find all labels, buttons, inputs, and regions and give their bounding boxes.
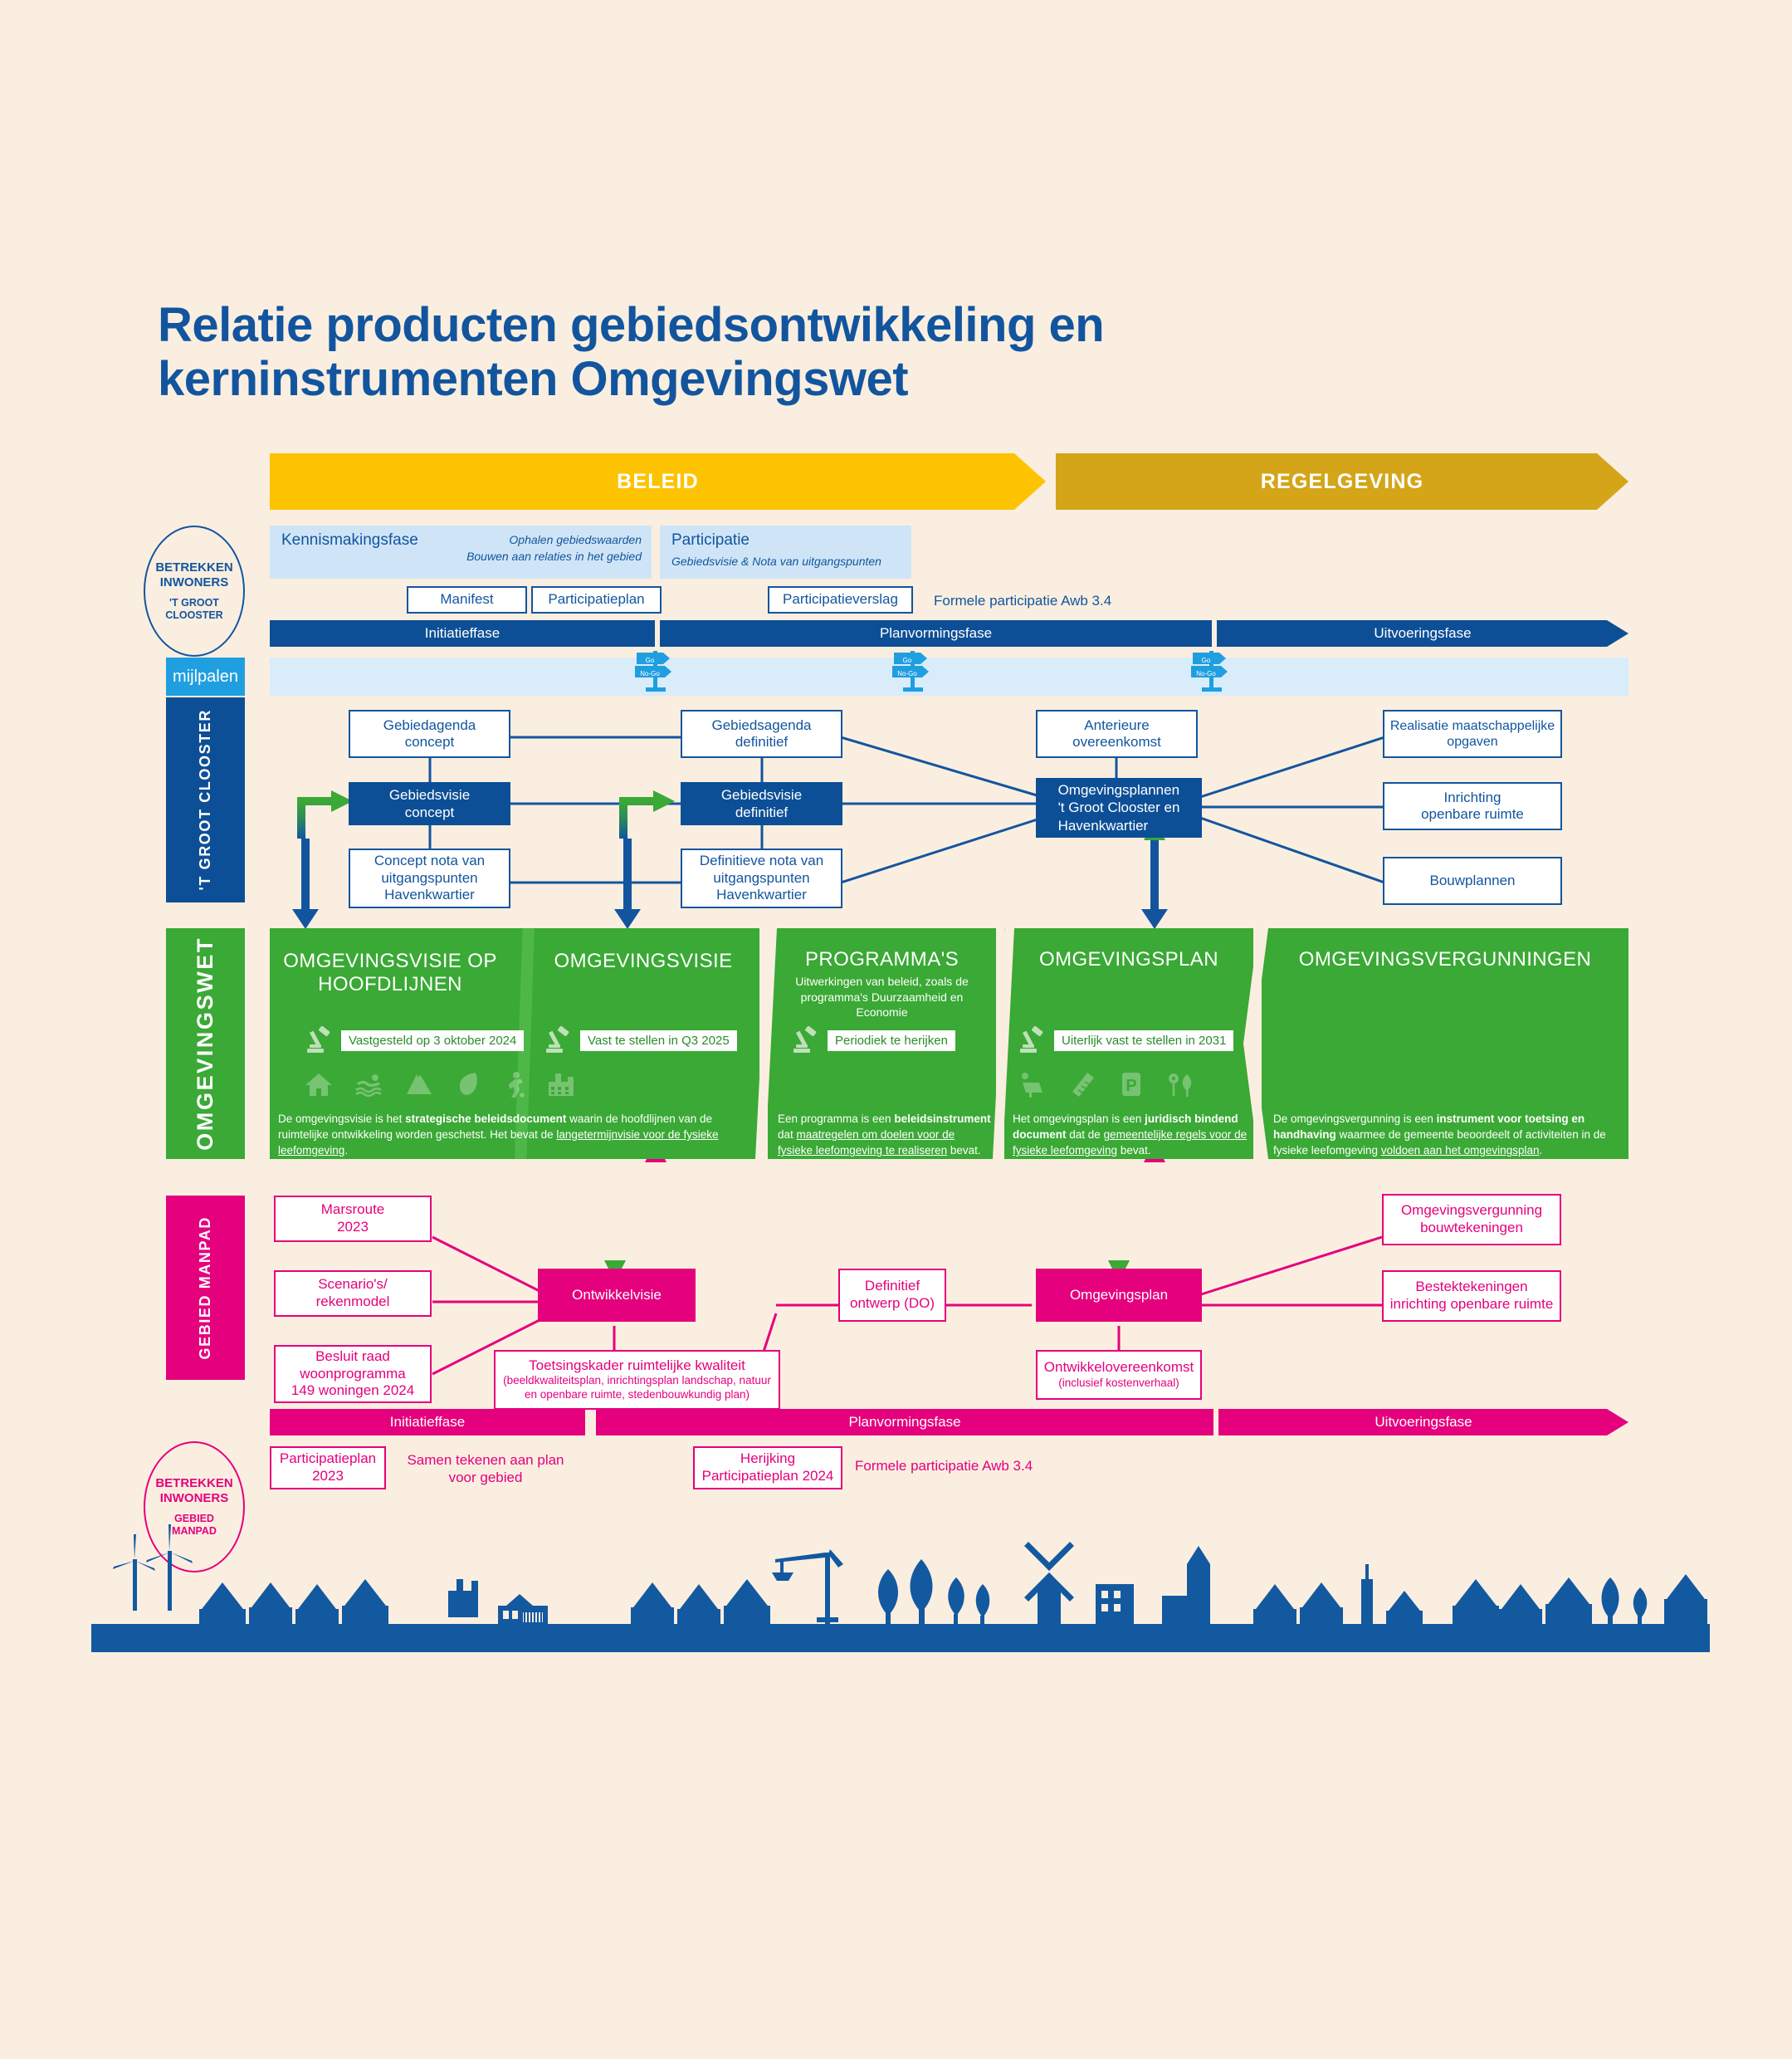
body-run: beleidsinstrument	[894, 1113, 990, 1125]
signpost-go-nogo-3: Go No-Go	[1183, 646, 1241, 696]
nature-icon	[1167, 1071, 1195, 1098]
node-omgevingsplan-pink: Omgevingsplan	[1036, 1269, 1202, 1322]
sidebar-label: 'T GROOT CLOOSTER	[197, 709, 214, 890]
segment-tag-row-1: Vastgesteld op 3 oktober 2024	[305, 1026, 524, 1054]
tent-icon	[406, 1072, 434, 1097]
pale-box-kennismakingsfase: Kennismakingsfase Ophalen gebiedswaarden…	[270, 526, 652, 579]
phase-bar-label: Initiatieffase	[390, 1414, 465, 1431]
phase-bar-initiatieffase-bottom: Initiatieffase	[270, 1409, 585, 1435]
node-label: Gebiedsagenda definitief	[711, 717, 811, 751]
node-concept-nota: Concept nota van uitgangspunten Havenkwa…	[349, 849, 510, 908]
sidebar-gebied-manpad: GEBIED MANPAD	[166, 1196, 245, 1380]
title-line-1: Relatie producten gebiedsontwikkeling en	[158, 299, 1403, 353]
body-run: Een programma is een	[778, 1113, 894, 1125]
green-segment-omgevingsvergunningen: OMGEVINGSVERGUNNINGEN De omgevingsvergun…	[1262, 928, 1628, 1159]
infographic-canvas: Relatie producten gebiedsontwikkeling en…	[0, 0, 1792, 2059]
body-run: bevat.	[947, 1144, 981, 1157]
node-omgevingsplannen: Omgevingsplannen 't Groot Clooster en Ha…	[1036, 778, 1202, 838]
segment-subtitle: Uitwerkingen van beleid, zoals de progra…	[768, 974, 996, 1020]
segment-header-4: OMGEVINGSPLAN	[1004, 948, 1253, 971]
node-label: Definitief ontwerp (DO)	[850, 1278, 935, 1312]
pale-box-italic-2: Bouwen aan relaties in het gebied	[466, 548, 642, 565]
phase-bar-label: Initiatieffase	[425, 625, 500, 642]
node-ontwikkelvisie: Ontwikkelvisie	[538, 1269, 696, 1322]
box-label: Participatieplan	[548, 591, 644, 608]
node-label: Realisatie maatschappelijke opgaven	[1390, 718, 1555, 750]
segment-tag: Vastgesteld op 3 oktober 2024	[341, 1030, 524, 1051]
segment-header-3: PROGRAMMA'S Uitwerkingen van beleid, zoa…	[768, 948, 996, 1020]
segment-body-3: Een programma is een beleidsinstrument d…	[778, 1111, 992, 1158]
segment-body-5: De omgevingsvergunning is een instrument…	[1273, 1111, 1622, 1158]
phase-bar-planvormingsfase-top: Planvormingsfase	[660, 620, 1212, 647]
crane-icon	[772, 1549, 843, 1626]
mijlpalen-tag: mijlpalen	[166, 658, 245, 696]
pale-box-italic-1: Ophalen gebiedswaarden	[466, 531, 642, 548]
badge-line-3: 'T GROOT	[169, 597, 219, 609]
mijlpalen-label: mijlpalen	[173, 668, 238, 687]
sidebar-label: GEBIED MANPAD	[197, 1216, 214, 1359]
body-run: dat	[778, 1128, 797, 1141]
node-label: Anterieure overeenkomst	[1072, 717, 1161, 751]
node-gebiedsvisie-definitief: Gebiedsvisie definitief	[681, 782, 842, 825]
node-label: Gebiedagenda concept	[383, 717, 476, 751]
badge-line-2: INWONERS	[160, 1491, 229, 1506]
sidebar-omgevingswet: OMGEVINGSWET	[166, 928, 245, 1159]
node-ontwikkelovereenkomst: Ontwikkelovereenkomst (inclusief kostenv…	[1036, 1350, 1202, 1400]
body-run: strategische beleidsdocument	[405, 1113, 566, 1125]
windmill-icon	[1024, 1542, 1074, 1624]
segment-icon-row-1	[305, 1071, 575, 1098]
body-run: .	[1539, 1144, 1542, 1157]
note-samen-tekenen: Samen tekenen aan plan voor gebied	[398, 1451, 573, 1487]
wind-turbine-icon	[113, 1524, 193, 1611]
factory-icon	[547, 1072, 575, 1097]
svg-text:Go: Go	[646, 657, 655, 664]
node-label: Concept nota van uitgangspunten Havenkwa…	[374, 853, 485, 903]
segment-tag: Vast te stellen in Q3 2025	[580, 1030, 737, 1051]
node-besluit-raad: Besluit raad woonprogramma 149 woningen …	[274, 1345, 432, 1403]
skyline-illustration	[91, 1519, 1710, 1652]
segment-header-5: OMGEVINGSVERGUNNINGEN	[1262, 948, 1628, 971]
node-gebiedsagenda-concept: Gebiedagenda concept	[349, 710, 510, 758]
phase-bar-uitvoeringsfase-bottom: Uitvoeringsfase	[1218, 1409, 1628, 1435]
segment-title: OMGEVINGSPLAN	[1004, 948, 1253, 971]
note-formele-participatie-bottom: Formele participatie Awb 3.4	[855, 1457, 1033, 1475]
segment-tag-row-3: Periodiek te herijken	[791, 1026, 955, 1054]
node-marsroute: Marsroute 2023	[274, 1196, 432, 1242]
node-label: Inrichting openbare ruimte	[1421, 790, 1524, 824]
banner-beleid: BELEID	[270, 453, 1046, 510]
solar-panel-icon	[1018, 1071, 1046, 1098]
runner-icon	[502, 1071, 525, 1098]
node-label: Scenario's/ rekenmodel	[316, 1276, 390, 1310]
phase-bar-initiatieffase-top: Initiatieffase	[270, 620, 655, 647]
segment-body-4: Het omgevingsplan is een juridisch binde…	[1013, 1111, 1249, 1158]
page-title: Relatie producten gebiedsontwikkeling en…	[158, 299, 1403, 407]
node-scenarios-rekenmodel: Scenario's/ rekenmodel	[274, 1270, 432, 1317]
svg-text:Go: Go	[903, 657, 912, 664]
svg-text:No-Go: No-Go	[640, 670, 660, 677]
box-participatieplan-2023: Participatieplan 2023	[270, 1446, 386, 1489]
box-participatieverslag: Participatieverslag	[768, 586, 913, 614]
swimming-icon	[354, 1072, 384, 1097]
box-label: Participatieplan 2023	[280, 1450, 376, 1484]
tree-icon	[878, 1559, 989, 1626]
node-anterieure-overeenkomst: Anterieure overeenkomst	[1036, 710, 1198, 758]
segment-title: OMGEVINGSVISIE OP HOOFDLIJNEN	[278, 950, 502, 997]
pale-box-italic-1: Gebiedsvisie & Nota van uitgangspunten	[671, 553, 901, 570]
ruler-icon	[1071, 1071, 1096, 1098]
body-run: dat de	[1067, 1128, 1104, 1141]
box-label: Participatieverslag	[783, 591, 898, 608]
segment-tag-row-2: Vast te stellen in Q3 2025	[544, 1026, 737, 1054]
gavel-icon	[305, 1026, 333, 1054]
node-label: Ontwikkelvisie	[572, 1287, 662, 1303]
gavel-icon	[1018, 1026, 1046, 1054]
node-label: Bestektekeningen inrichting openbare rui…	[1390, 1279, 1554, 1313]
green-segment-omgevingsplan: OMGEVINGSPLAN Uiterlijk vast te stellen …	[1004, 928, 1253, 1159]
badge-line-2: INWONERS	[160, 575, 229, 590]
node-label: Omgevingsplan	[1070, 1287, 1168, 1303]
node-sublabel: (beeldkwaliteitsplan, inrichtingsplan la…	[500, 1374, 774, 1402]
node-label: Toetsingskader ruimtelijke kwaliteit	[529, 1357, 745, 1375]
node-label: Ontwikkelovereenkomst	[1044, 1359, 1194, 1377]
box-label: Herijking Participatieplan 2024	[702, 1450, 834, 1484]
box-herijking-participatieplan-2024: Herijking Participatieplan 2024	[693, 1446, 842, 1489]
green-segment-omgevingsvisie-group: OMGEVINGSVISIE OP HOOFDLIJNEN Vastgestel…	[270, 928, 759, 1159]
node-gebiedsvisie-concept: Gebiedsvisie concept	[349, 782, 510, 825]
phase-bar-uitvoeringsfase-top: Uitvoeringsfase	[1217, 620, 1628, 647]
body-run: maatregelen om doelen voor de fysieke le…	[778, 1128, 955, 1157]
svg-text:P: P	[1125, 1077, 1136, 1095]
gavel-icon	[791, 1026, 819, 1054]
body-run: voldoen aan het omgevingsplan	[1381, 1144, 1540, 1157]
pale-box-participatie: Participatie Gebiedsvisie & Nota van uit…	[660, 526, 911, 579]
banner-beleid-label: BELEID	[617, 470, 699, 494]
note-formele-participatie-top: Formele participatie Awb 3.4	[934, 592, 1111, 609]
betrekken-inwoners-badge-top: BETREKKEN INWONERS 'T GROOT CLOOSTER	[144, 526, 245, 657]
mijlpalen-band	[270, 658, 1628, 696]
segment-header-2: OMGEVINGSVISIE	[535, 950, 751, 973]
body-run: .	[344, 1144, 348, 1157]
node-sublabel: (inclusief kostenverhaal)	[1058, 1377, 1179, 1391]
svg-text:No-Go: No-Go	[1196, 670, 1216, 677]
node-gebiedsagenda-definitief: Gebiedsagenda definitief	[681, 710, 842, 758]
body-run: Het omgevingsplan is een	[1013, 1113, 1145, 1125]
segment-header-1: OMGEVINGSVISIE OP HOOFDLIJNEN	[278, 950, 502, 997]
pale-box-heading: Kennismakingsfase	[281, 531, 418, 550]
node-label: Gebiedsvisie concept	[389, 786, 470, 822]
node-definitieve-nota: Definitieve nota van uitgangspunten Have…	[681, 849, 842, 908]
signpost-go-nogo-1: Go No-Go	[627, 646, 685, 696]
svg-text:Go: Go	[1202, 657, 1211, 664]
box-participatieplan: Participatieplan	[531, 586, 662, 614]
node-omgevingsvergunning-bouwtekeningen: Omgevingsvergunning bouwtekeningen	[1382, 1194, 1561, 1245]
house-icon	[305, 1072, 333, 1097]
banner-regelgeving: REGELGEVING	[1056, 453, 1628, 510]
node-label: Bouwplannen	[1429, 873, 1515, 889]
segment-body-1: De omgevingsvisie is het strategische be…	[278, 1111, 743, 1158]
box-manifest: Manifest	[407, 586, 527, 614]
signpost-go-nogo-2: Go No-Go	[884, 646, 942, 696]
segment-title: PROGRAMMA'S	[768, 948, 996, 971]
segment-icon-row-4: P	[1018, 1071, 1195, 1098]
phase-bar-label: Planvormingsfase	[848, 1414, 960, 1431]
node-bouwplannen: Bouwplannen	[1383, 857, 1562, 905]
segment-tag-row-4: Uiterlijk vast te stellen in 2031	[1018, 1026, 1233, 1054]
title-line-2: kerninstrumenten Omgevingswet	[158, 353, 1403, 407]
phase-bar-label: Uitvoeringsfase	[1374, 625, 1471, 642]
sidebar-groot-clooster: 'T GROOT CLOOSTER	[166, 697, 245, 902]
node-label: Marsroute 2023	[321, 1201, 385, 1235]
body-run: De omgevingsvisie is het	[278, 1113, 405, 1125]
node-label: Besluit raad woonprogramma 149 woningen …	[291, 1348, 414, 1400]
node-realisatie-opgaven: Realisatie maatschappelijke opgaven	[1383, 710, 1562, 758]
svg-text:No-Go: No-Go	[897, 670, 917, 677]
segment-tag: Periodiek te herijken	[828, 1030, 955, 1051]
node-label: Definitieve nota van uitgangspunten Have…	[700, 853, 823, 903]
node-definitief-ontwerp: Definitief ontwerp (DO)	[838, 1269, 946, 1322]
body-run: De omgevingsvergunning is een	[1273, 1113, 1437, 1125]
sidebar-label: OMGEVINGSWET	[193, 937, 218, 1151]
node-label: Omgevingsplannen 't Groot Clooster en Ha…	[1058, 781, 1180, 834]
gavel-icon	[544, 1026, 572, 1054]
segment-title: OMGEVINGSVISIE	[535, 950, 751, 973]
segment-title: OMGEVINGSVERGUNNINGEN	[1262, 948, 1628, 971]
node-toetsingskader: Toetsingskader ruimtelijke kwaliteit (be…	[494, 1350, 780, 1410]
banner-regelgeving-label: REGELGEVING	[1261, 470, 1424, 494]
badge-line-1: BETREKKEN	[155, 560, 232, 575]
badge-line-4: CLOOSTER	[165, 609, 222, 622]
node-label: Gebiedsvisie definitief	[721, 786, 802, 822]
node-label: Omgevingsvergunning bouwtekeningen	[1401, 1202, 1542, 1236]
box-label: Manifest	[440, 591, 493, 608]
segment-tag: Uiterlijk vast te stellen in 2031	[1054, 1030, 1233, 1051]
phase-bar-label: Planvormingsfase	[880, 625, 992, 642]
node-bestektekeningen: Bestektekeningen inrichting openbare rui…	[1382, 1270, 1561, 1322]
parking-icon: P	[1121, 1071, 1142, 1098]
phase-bar-planvormingsfase-bottom: Planvormingsfase	[596, 1409, 1213, 1435]
body-run: bevat.	[1117, 1144, 1151, 1157]
leaf-icon	[456, 1071, 481, 1098]
green-segment-programmas: PROGRAMMA'S Uitwerkingen van beleid, zoa…	[768, 928, 996, 1159]
node-inrichting-openbare-ruimte: Inrichting openbare ruimte	[1383, 782, 1562, 830]
pale-box-heading: Participatie	[671, 531, 901, 550]
badge-line-1: BETREKKEN	[155, 1476, 232, 1491]
phase-bar-label: Uitvoeringsfase	[1375, 1414, 1472, 1431]
